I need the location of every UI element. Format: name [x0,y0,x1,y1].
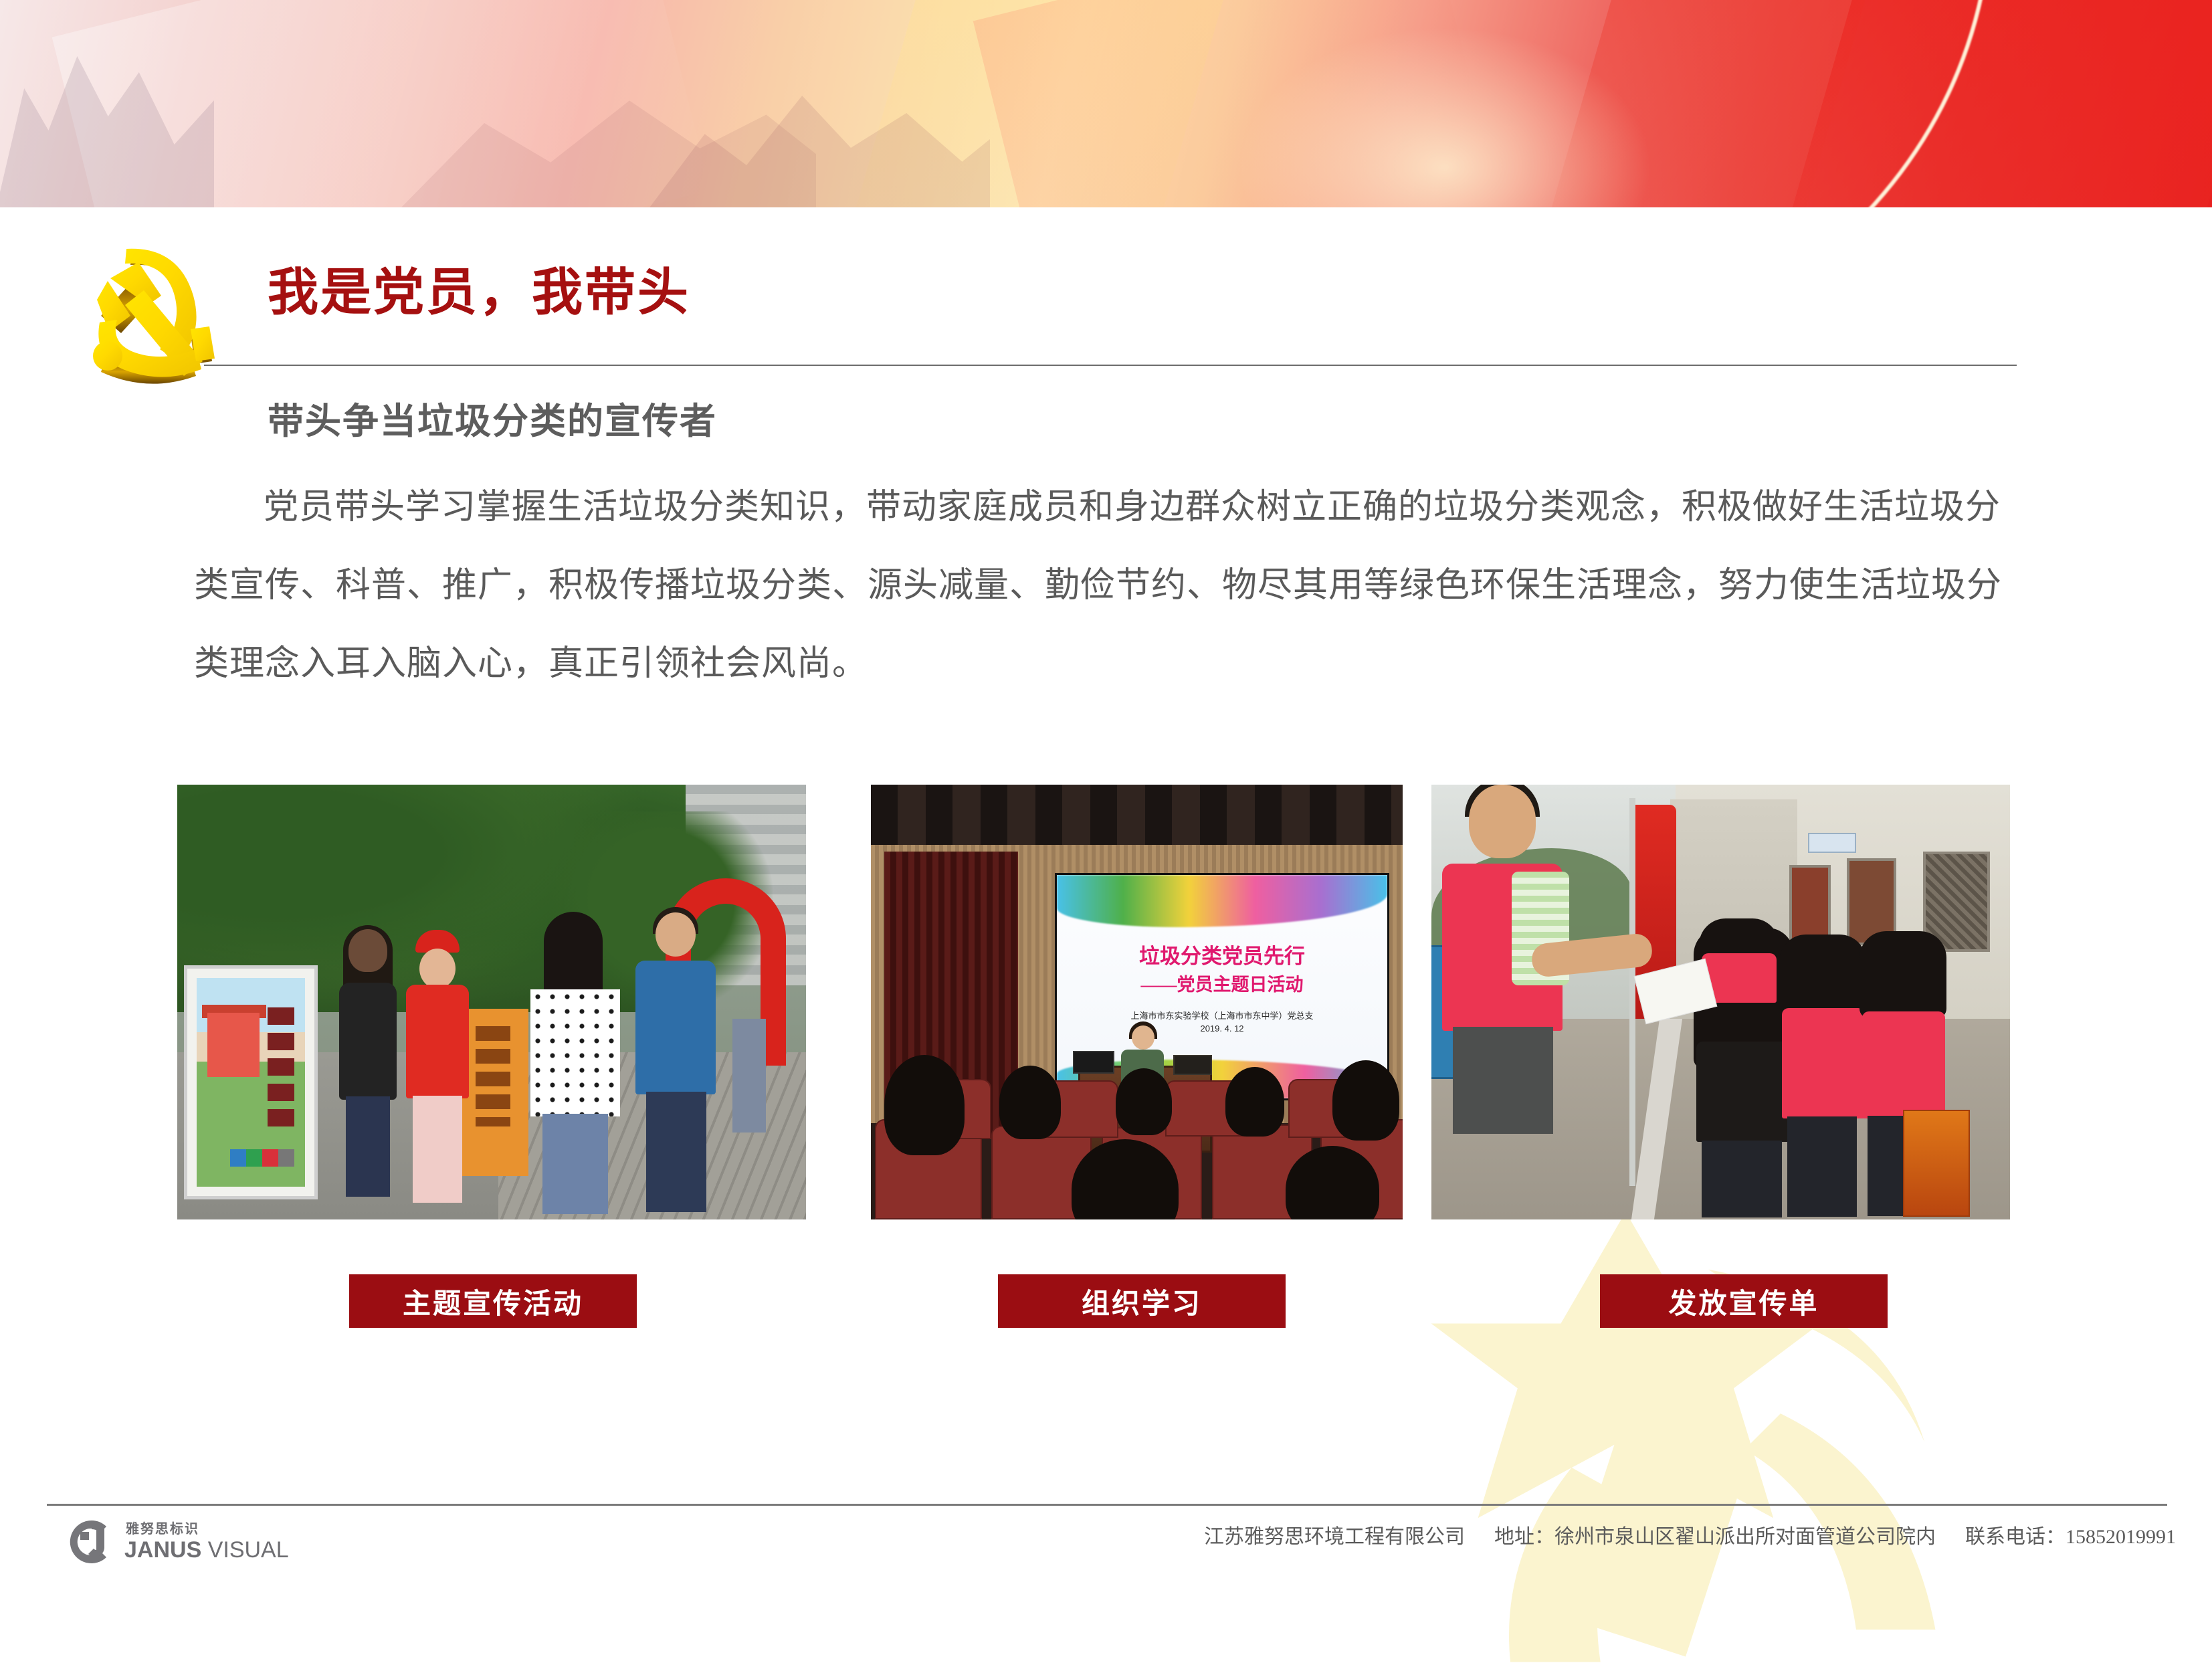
photo-caption-3: 发放宣传单 [1600,1274,1888,1328]
footer-logo: 雅努思标识 JANUS VISUAL [67,1517,289,1567]
title-divider [204,365,2017,366]
photo-screen-rainbow [1057,875,1387,927]
photo-display-board [184,965,318,1199]
footer-phone-label: 联系电话： [1965,1526,2066,1548]
janus-visual-logo-icon [67,1517,116,1567]
photo-volunteer [1779,935,1866,1215]
footer-company-name: 江苏雅努思环境工程有限公司 [1204,1520,1465,1549]
photo-screen-title: 垃圾分类党员先行 [1057,939,1387,969]
footer-contact-info: 江苏雅努思环境工程有限公司 地址：徐州市泉山区翟山派出所对面管道公司院内 联系电… [1204,1520,2176,1549]
photo-board-house [207,1013,260,1077]
party-hammer-sickle-emblem-icon [90,241,231,385]
outdoor-promotion-photo[interactable] [177,785,806,1219]
logo-english-name: JANUS VISUAL [124,1539,289,1561]
page-subtitle: 带头争当垃圾分类的宣传者 [268,391,717,444]
photo-person [629,912,722,1210]
photo-screen-org: 上海市市东实验学校（上海市市东中学）党总支 [1057,1009,1387,1021]
logo-en-light: VISUAL [208,1537,289,1563]
photo-caption-2: 组织学习 [998,1274,1286,1328]
party-emblem-watermark-icon [1331,1197,2100,1666]
banner-ribbon-curve [1151,0,2212,207]
auditorium-study-photo[interactable]: 垃圾分类党员先行 ——党员主题日活动 上海市市东实验学校（上海市市东中学）党总支… [871,785,1403,1219]
body-paragraph-block: 党员带头学习掌握生活垃圾分类知识，带动家庭成员和身边群众树立正确的垃圾分类观念，… [194,468,2020,703]
body-paragraph: 党员带头学习掌握生活垃圾分类知识，带动家庭成员和身边群众树立正确的垃圾分类观念，… [194,468,2020,703]
photo-shop-sign [1808,833,1856,853]
photo-ceiling [871,785,1403,845]
photo-screen-subtitle: ——党员主题日活动 [1057,970,1387,996]
photo-caption-1: 主题宣传活动 [349,1274,637,1328]
footer-divider [47,1504,2167,1506]
header-banner [0,0,2212,207]
photo-board-artwork [197,978,305,1187]
photo-audience-seats [871,1032,1403,1219]
photo-row: 垃圾分类党员先行 ——党员主题日活动 上海市市东实验学校（上海市市东中学）党总支… [177,785,2010,1226]
janus-visual-wordmark: 雅努思标识 JANUS VISUAL [124,1523,289,1561]
photo-person [331,929,405,1210]
footer-phone-number: 15852019991 [2066,1526,2176,1548]
photo-shopping-bag [1903,1110,1970,1217]
footer-address: 地址：徐州市泉山区翟山派出所对面管道公司院内 [1494,1520,1936,1549]
page-title: 我是党员，我带头 [268,268,690,318]
logo-en-bold: JANUS [124,1537,201,1563]
photo-window [1789,865,1831,945]
flyer-distribution-photo[interactable] [1431,785,2010,1219]
footer-phone: 联系电话：15852019991 [1965,1520,2176,1549]
page-title-row: 我是党员，我带头 [268,268,690,318]
photo-board-text [268,1007,294,1135]
photo-flag-pole [1629,798,1635,1186]
logo-chinese-name: 雅努思标识 [126,1523,289,1536]
photo-board-bins [230,1149,294,1167]
photo-volunteer [398,932,477,1210]
photo-person [525,916,625,1210]
photo-background-person [732,1019,766,1133]
